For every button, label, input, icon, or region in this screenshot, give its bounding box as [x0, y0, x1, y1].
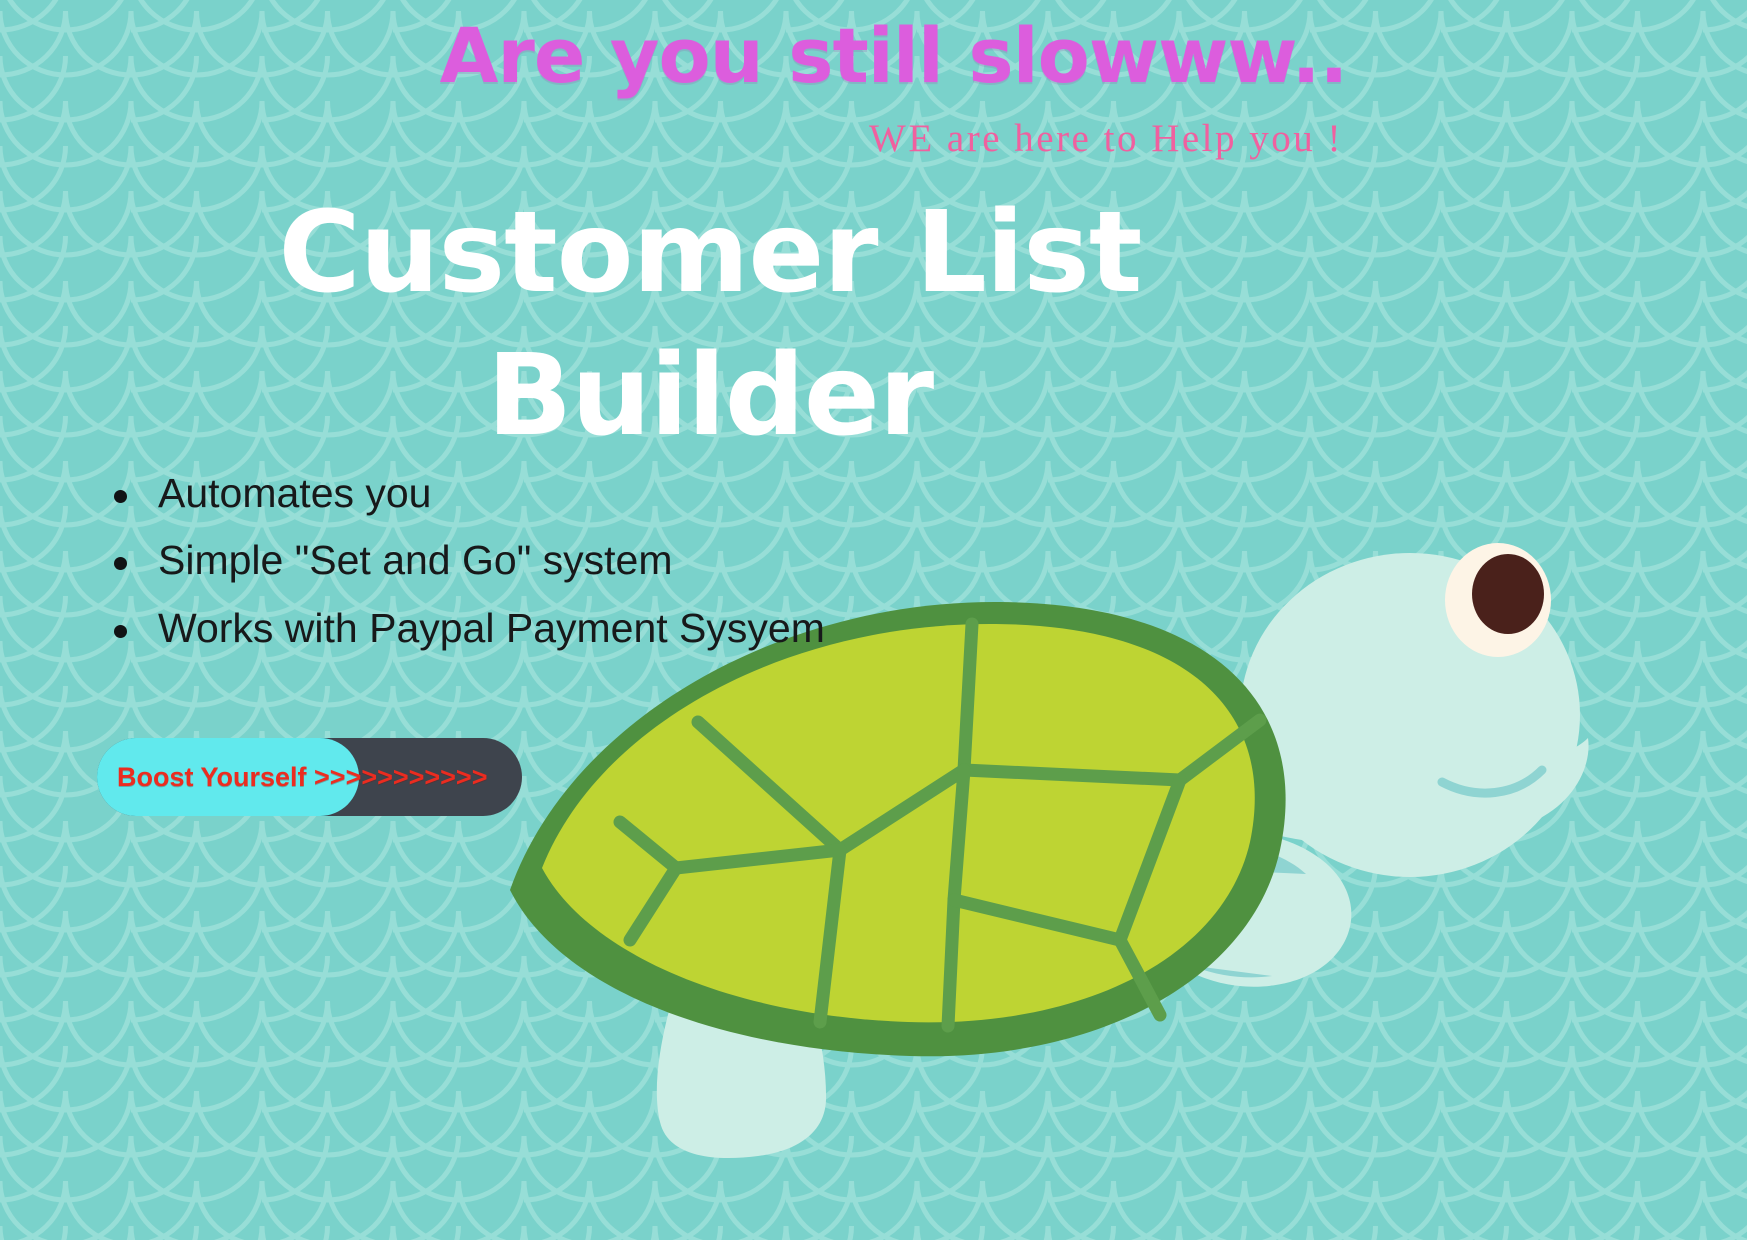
feature-text: Works with Paypal Payment Sysyem: [158, 605, 825, 651]
headline: Are you still slowww..: [0, 18, 1747, 94]
cta-label: Boost Yourself >>>>>>>>>>>: [117, 738, 487, 816]
list-item: Works with Paypal Payment Sysyem: [114, 601, 825, 656]
title-line-1: Customer List: [120, 182, 1300, 325]
page-title: Customer List Builder: [120, 182, 1300, 469]
promo-poster: Are you still slowww.. WE are here to He…: [0, 0, 1747, 1240]
title-line-2: Builder: [120, 325, 1300, 468]
feature-list: Automates you Simple "Set and Go" system…: [62, 466, 825, 668]
boost-yourself-button[interactable]: Boost Yourself >>>>>>>>>>>: [97, 738, 522, 816]
turtle-eye-pupil: [1472, 554, 1544, 634]
list-item: Automates you: [114, 466, 825, 521]
subheadline: WE are here to Help you !: [869, 116, 1343, 161]
feature-text: Automates you: [158, 470, 432, 516]
feature-text: Simple "Set and Go" system: [158, 537, 672, 583]
list-item: Simple "Set and Go" system: [114, 533, 825, 588]
